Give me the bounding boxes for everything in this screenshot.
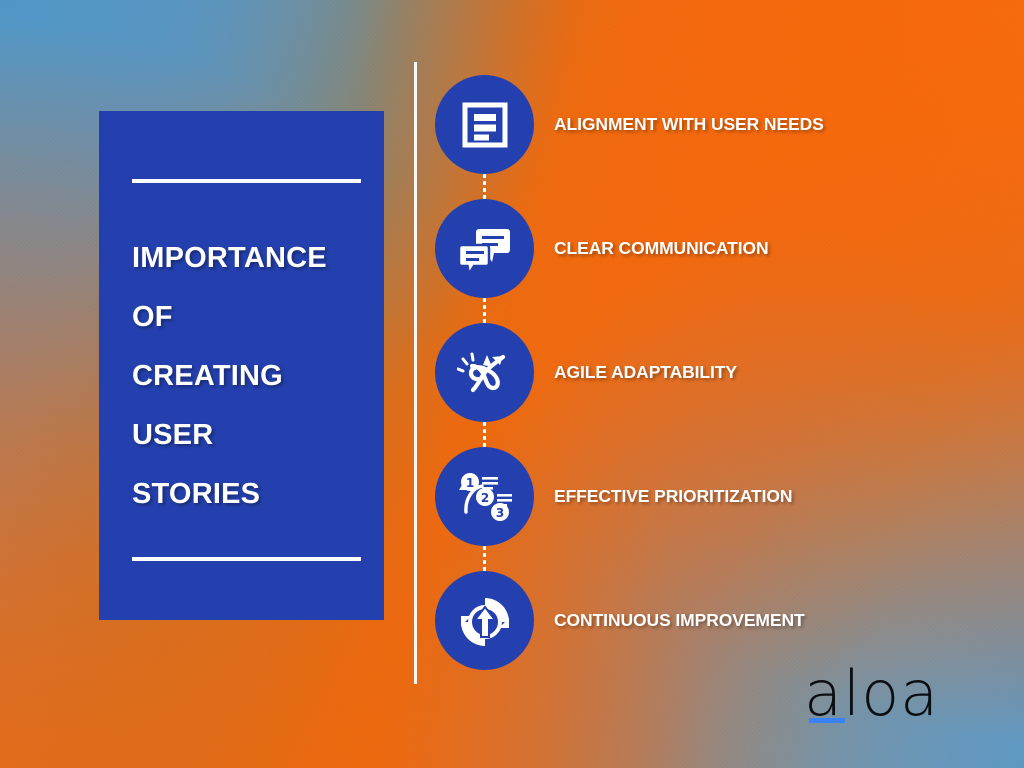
list-item-label: EFFECTIVE PRIORITIZATION — [554, 486, 792, 507]
list-item-label: AGILE ADAPTABILITY — [554, 362, 737, 383]
title-rule-top — [132, 179, 361, 183]
list-item: CLEAR COMMUNICATION — [435, 199, 995, 298]
svg-text:3: 3 — [495, 506, 503, 520]
slide-canvas: IMPORTANCE OF CREATING USER STORIES — [0, 0, 1024, 768]
icon-circle-improvement — [435, 571, 534, 670]
logo-wordmark: aloa — [804, 663, 944, 725]
title-line-2: OF — [132, 288, 366, 347]
connector-dots — [483, 422, 486, 447]
icon-circle-agility — [435, 323, 534, 422]
benefits-list: ALIGNMENT WITH USER NEEDS CLEAR COMMUNI — [435, 75, 995, 670]
numbered-priority-icon: 1 2 3 — [456, 470, 514, 524]
vertical-divider — [414, 62, 417, 684]
title-line-1: IMPORTANCE — [132, 229, 366, 288]
svg-text:1: 1 — [465, 476, 473, 490]
title-line-3: CREATING — [132, 347, 366, 406]
connector-dots — [483, 298, 486, 323]
chat-bubbles-icon — [457, 223, 513, 275]
list-item: AGILE ADAPTABILITY — [435, 323, 995, 422]
aloa-logo[interactable]: aloa — [804, 663, 944, 725]
refresh-up-arrow-icon — [457, 594, 513, 648]
list-item: 1 2 3 — [435, 447, 995, 546]
list-item: ALIGNMENT WITH USER NEEDS — [435, 75, 995, 174]
title-panel: IMPORTANCE OF CREATING USER STORIES — [99, 111, 384, 620]
crossing-arrows-icon — [457, 346, 513, 400]
list-item-label: CLEAR COMMUNICATION — [554, 238, 769, 259]
svg-text:2: 2 — [480, 491, 488, 505]
icon-circle-prioritization: 1 2 3 — [435, 447, 534, 546]
title-line-4: USER — [132, 406, 366, 465]
icon-circle-communication — [435, 199, 534, 298]
connector-dots — [483, 174, 486, 199]
title-rule-bottom — [132, 557, 361, 561]
document-list-icon — [459, 99, 511, 151]
connector-dots — [483, 546, 486, 571]
list-item-label: ALIGNMENT WITH USER NEEDS — [554, 114, 824, 135]
list-item: CONTINUOUS IMPROVEMENT — [435, 571, 995, 670]
page-title: IMPORTANCE OF CREATING USER STORIES — [132, 229, 366, 524]
logo-accent-underline — [809, 718, 845, 723]
icon-circle-alignment — [435, 75, 534, 174]
title-line-5: STORIES — [132, 465, 366, 524]
list-item-label: CONTINUOUS IMPROVEMENT — [554, 610, 805, 631]
